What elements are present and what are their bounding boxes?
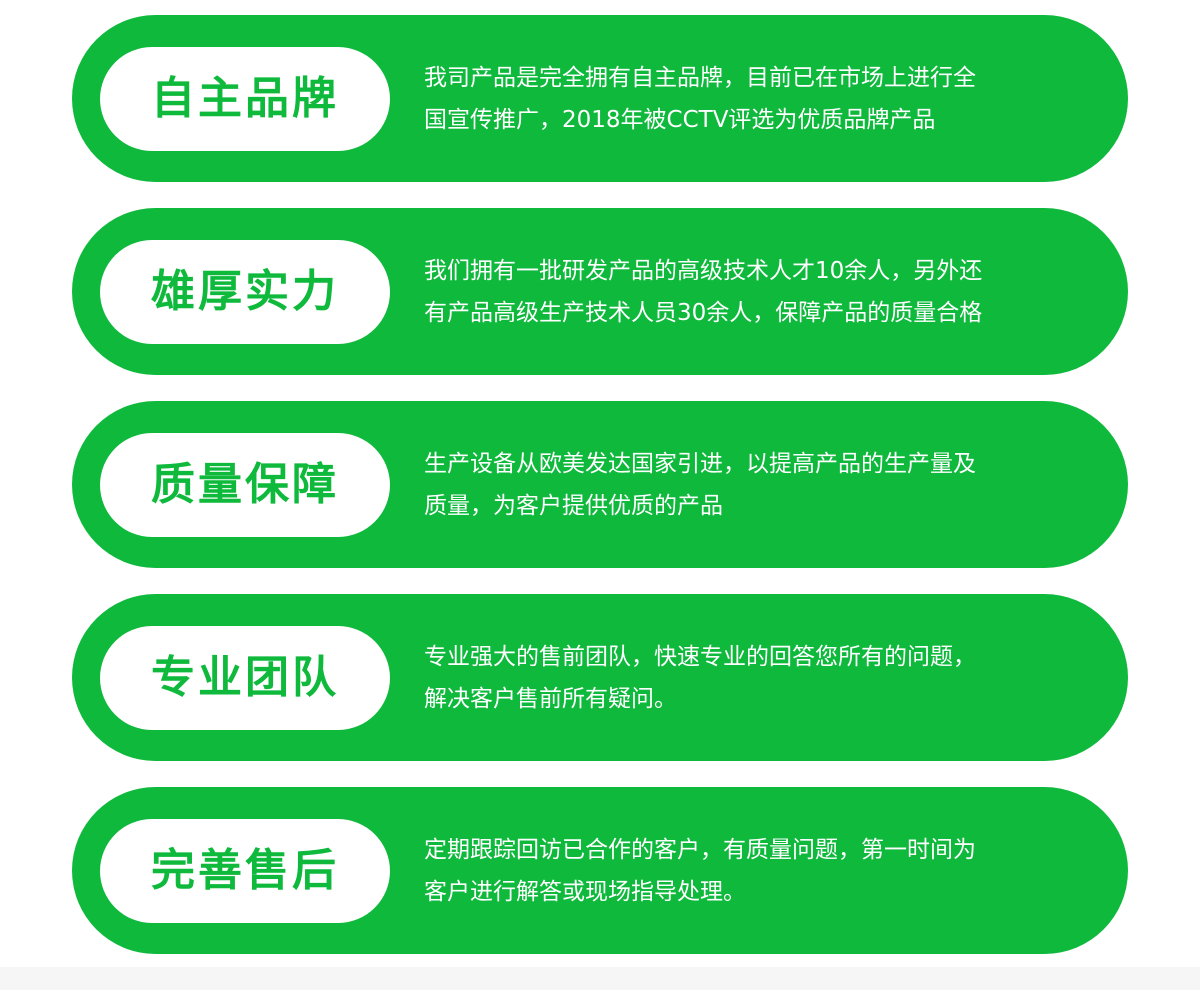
description-line: 有产品高级生产技术人员30余人，保障产品的质量合格 <box>424 292 1088 334</box>
advantage-label: 专业团队 <box>151 656 339 700</box>
description-line: 专业强大的售前团队，快速专业的回答您所有的问题， <box>424 636 1088 678</box>
advantage-row: 专业团队 专业强大的售前团队，快速专业的回答您所有的问题， 解决客户售前所有疑问… <box>72 594 1128 761</box>
advantages-page: 自主品牌 我司产品是完全拥有自主品牌，目前已在市场上进行全 国宣传推广，2018… <box>0 0 1200 990</box>
advantage-description: 我司产品是完全拥有自主品牌，目前已在市场上进行全 国宣传推广，2018年被CCT… <box>424 57 1128 141</box>
advantage-description: 专业强大的售前团队，快速专业的回答您所有的问题， 解决客户售前所有疑问。 <box>424 636 1128 720</box>
description-line: 我司产品是完全拥有自主品牌，目前已在市场上进行全 <box>424 57 1088 99</box>
advantage-label: 自主品牌 <box>151 77 339 121</box>
advantage-description: 我们拥有一批研发产品的高级技术人才10余人，另外还 有产品高级生产技术人员30余… <box>424 250 1128 334</box>
advantage-description: 生产设备从欧美发达国家引进，以提高产品的生产量及 质量，为客户提供优质的产品 <box>424 443 1128 527</box>
advantage-description: 定期跟踪回访已合作的客户，有质量问题，第一时间为 客户进行解答或现场指导处理。 <box>424 829 1128 913</box>
advantage-label: 完善售后 <box>151 849 339 893</box>
advantage-row: 自主品牌 我司产品是完全拥有自主品牌，目前已在市场上进行全 国宣传推广，2018… <box>72 15 1128 182</box>
advantage-badge: 完善售后 <box>100 819 390 923</box>
description-line: 质量，为客户提供优质的产品 <box>424 485 1088 527</box>
advantage-row: 质量保障 生产设备从欧美发达国家引进，以提高产品的生产量及 质量，为客户提供优质… <box>72 401 1128 568</box>
footer-divider-strip <box>0 967 1200 990</box>
description-line: 客户进行解答或现场指导处理。 <box>424 871 1088 913</box>
advantage-label: 雄厚实力 <box>151 270 339 314</box>
advantage-badge: 质量保障 <box>100 433 390 537</box>
advantages-list: 自主品牌 我司产品是完全拥有自主品牌，目前已在市场上进行全 国宣传推广，2018… <box>72 15 1128 954</box>
description-line: 解决客户售前所有疑问。 <box>424 678 1088 720</box>
description-line: 我们拥有一批研发产品的高级技术人才10余人，另外还 <box>424 250 1088 292</box>
advantage-badge: 自主品牌 <box>100 47 390 151</box>
advantage-badge: 雄厚实力 <box>100 240 390 344</box>
advantage-badge: 专业团队 <box>100 626 390 730</box>
description-line: 定期跟踪回访已合作的客户，有质量问题，第一时间为 <box>424 829 1088 871</box>
description-line: 生产设备从欧美发达国家引进，以提高产品的生产量及 <box>424 443 1088 485</box>
advantage-row: 雄厚实力 我们拥有一批研发产品的高级技术人才10余人，另外还 有产品高级生产技术… <box>72 208 1128 375</box>
advantage-label: 质量保障 <box>151 463 339 507</box>
description-line: 国宣传推广，2018年被CCTV评选为优质品牌产品 <box>424 99 1088 141</box>
advantage-row: 完善售后 定期跟踪回访已合作的客户，有质量问题，第一时间为 客户进行解答或现场指… <box>72 787 1128 954</box>
